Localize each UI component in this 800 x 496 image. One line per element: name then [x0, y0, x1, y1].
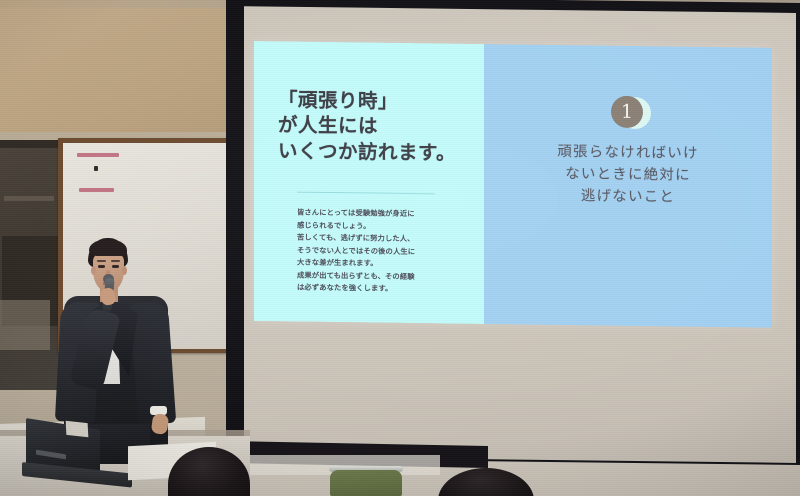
wall-strip — [0, 300, 50, 350]
presenter-ear-right — [122, 266, 127, 275]
slide-number-badge: 1 — [611, 96, 645, 130]
projected-slide: 「頑張り時」 が人生には いくつか訪れます。 皆さんにとっては受験勉強が身近に … — [254, 41, 772, 328]
presenter-hair-fringe — [89, 240, 127, 256]
cabinet-trim — [0, 140, 62, 148]
presenter-eye-left — [98, 265, 105, 268]
whiteboard-marker-stroke — [77, 153, 119, 157]
slide-point-text: 頑張らなければいけ ないときに絶対に 逃げないこと — [484, 140, 772, 210]
slide-left-panel: 「頑張り時」 が人生には いくつか訪れます。 皆さんにとっては受験勉強が身近に … — [254, 41, 484, 324]
slide-badge-wrap: 1 — [484, 94, 772, 132]
wall-upper-left — [0, 0, 232, 140]
presenter-eyebrow-left — [97, 260, 106, 262]
slide-divider — [297, 192, 435, 195]
presenter-ear-left — [91, 266, 96, 275]
whiteboard-magnet — [94, 166, 98, 171]
slide-title: 「頑張り時」 が人生には いくつか訪れます。 — [278, 87, 456, 165]
presenter-eyebrow-right — [111, 260, 120, 262]
presenter-eye-right — [112, 265, 119, 268]
slide-body-text: 皆さんにとっては受験勉強が身近に 感じられるでしょう。 苦しくても、逃げずに努力… — [297, 207, 465, 297]
audience-chair — [330, 470, 402, 496]
laptop-sticker — [66, 421, 89, 437]
slide-right-panel: 1 頑張らなければいけ ないときに絶対に 逃げないこと — [484, 44, 772, 328]
whiteboard-marker-stroke — [79, 188, 114, 192]
cabinet-shelf — [4, 196, 54, 201]
photo-scene: 「頑張り時」 が人生には いくつか訪れます。 皆さんにとっては受験勉強が身近に … — [0, 0, 800, 496]
badge-number-label: 1 — [611, 96, 643, 128]
